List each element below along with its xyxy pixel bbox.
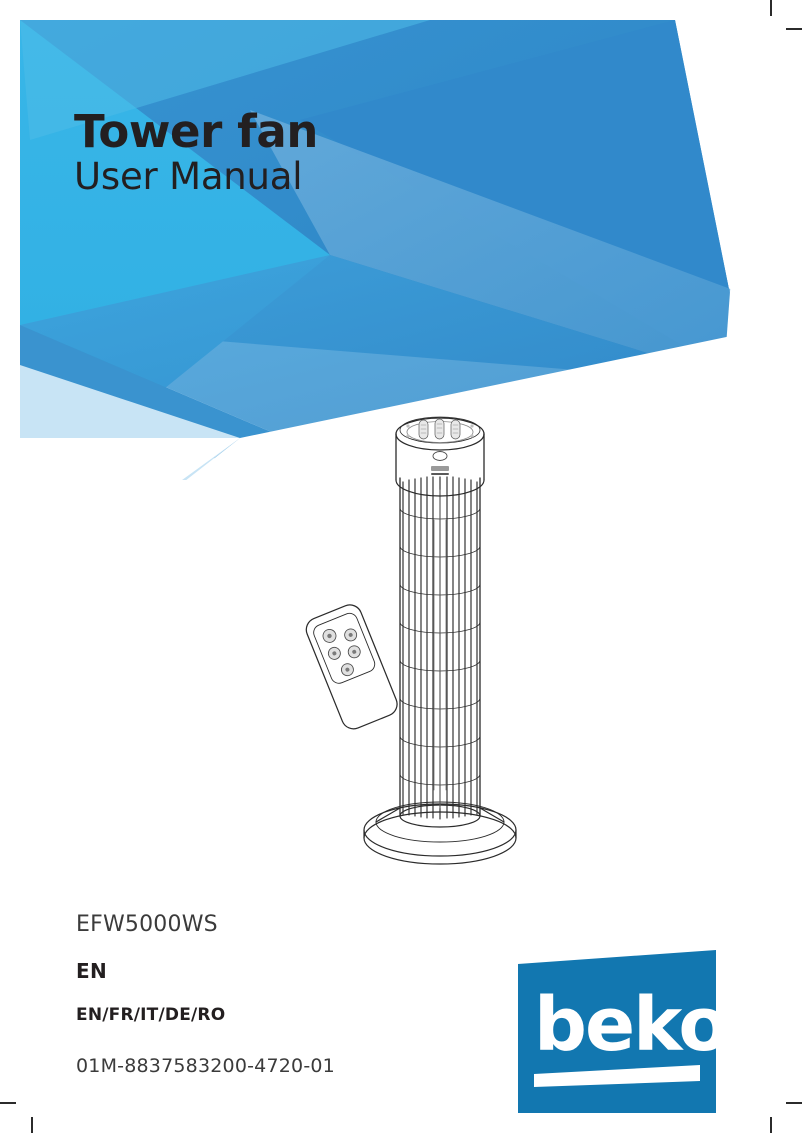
control-panel bbox=[406, 419, 473, 443]
tower-fan-illustration bbox=[288, 390, 548, 890]
fan-body-grille bbox=[400, 477, 480, 827]
cover-footer-info: EFW5000WS EN EN/FR/IT/DE/RO 01M-88375832… bbox=[76, 912, 476, 1077]
hero-mask-top bbox=[0, 0, 760, 20]
document-type-title: User Manual bbox=[74, 155, 494, 199]
crop-mark-bottom-right-vertical bbox=[770, 1117, 772, 1133]
manual-cover-page: Tower fan User Manual bbox=[0, 0, 802, 1133]
logo-wordmark: beko bbox=[534, 982, 716, 1068]
crop-mark-bottom-left-horizontal bbox=[0, 1102, 16, 1104]
cover-title-block: Tower fan User Manual bbox=[74, 108, 494, 199]
document-reference-code: 01M-8837583200-4720-01 bbox=[76, 1055, 476, 1077]
crop-mark-top-right-horizontal bbox=[786, 28, 802, 30]
crop-mark-bottom-right-horizontal bbox=[786, 1102, 802, 1104]
remote-control bbox=[303, 601, 401, 732]
crop-mark-top-right-vertical bbox=[770, 0, 772, 16]
remote-buttons bbox=[320, 620, 370, 680]
beko-brand-logo: beko bbox=[518, 950, 716, 1113]
front-badge bbox=[431, 452, 449, 476]
language-list: EN/FR/IT/DE/RO bbox=[76, 1005, 476, 1025]
product-title: Tower fan bbox=[74, 108, 494, 155]
model-code: EFW5000WS bbox=[76, 912, 476, 937]
primary-language-code: EN bbox=[76, 959, 476, 983]
hero-mask-left bbox=[0, 0, 20, 480]
crop-mark-bottom-left-vertical bbox=[31, 1117, 33, 1133]
